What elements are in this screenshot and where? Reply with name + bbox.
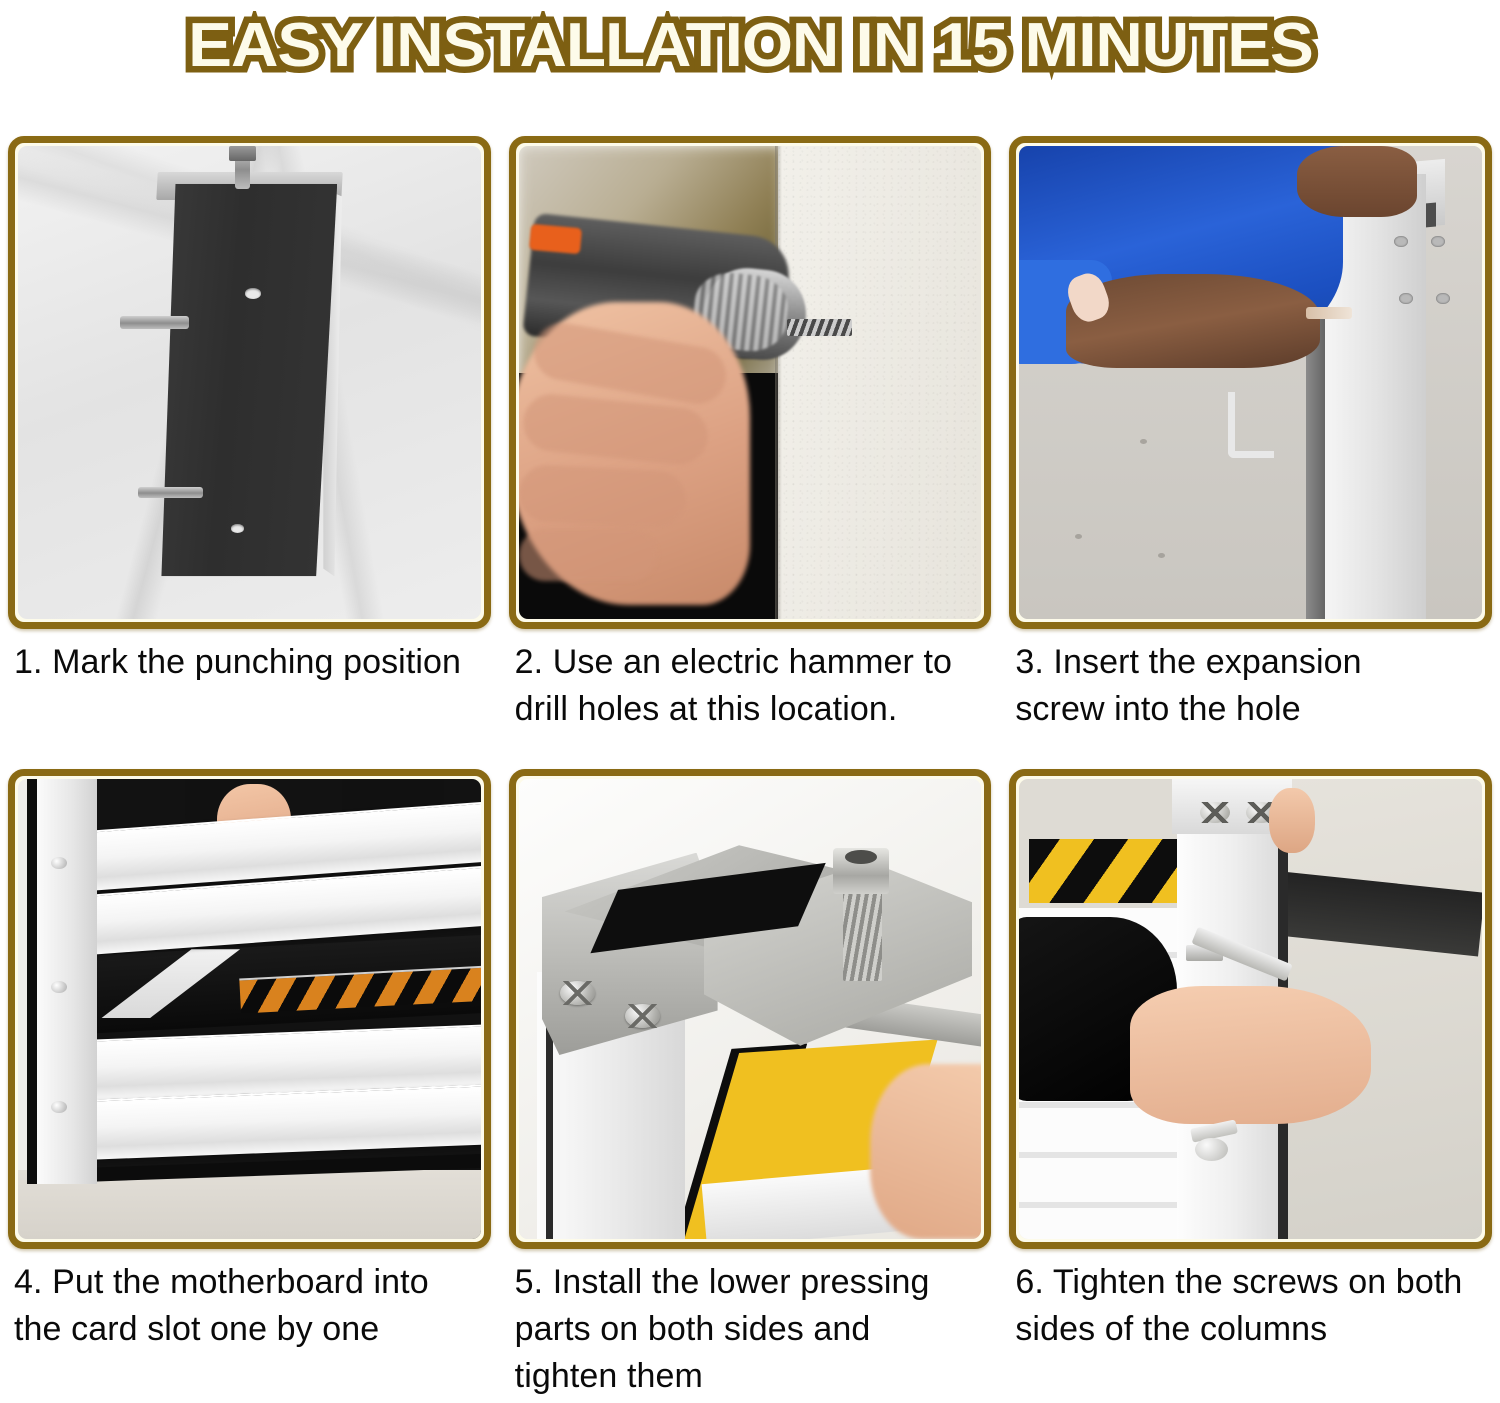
installer-hand: [870, 1064, 981, 1239]
column-bolt-1: [1394, 236, 1408, 247]
lower-screw: [1195, 1138, 1227, 1161]
photo-frame-6: [1009, 769, 1492, 1249]
step-3-caption: 3. Insert the expansion screw into the h…: [1009, 629, 1492, 733]
step-6-caption: 6. Tighten the screws on both sides of t…: [1009, 1249, 1492, 1353]
caption-line: 4. Put the motherboard into: [14, 1259, 487, 1306]
column-screw-1: [1200, 802, 1230, 823]
column-bolt-4: [1436, 293, 1450, 304]
header-banner: EASY INSTALLATION IN 15 MINUTES: [0, 0, 1500, 92]
screw-cross-icon: [1200, 802, 1230, 823]
step-2-caption: 2. Use an electric hammer to drill holes…: [509, 629, 992, 733]
step-6-image: [1019, 779, 1482, 1239]
photo-frame-5: [509, 769, 992, 1249]
screw-cross-icon: [560, 981, 595, 1005]
step-6-photo-cell: [1009, 769, 1492, 1249]
column-bolt-3: [1399, 293, 1413, 304]
step-4-photo-cell: [8, 769, 491, 1249]
step-3-photo-cell: [1009, 136, 1492, 629]
step-2-photo-cell: [509, 136, 992, 629]
floor-speck-2: [1075, 534, 1082, 539]
step-1-image: [18, 146, 481, 619]
step-5-photo-cell: [509, 769, 992, 1249]
finger-4: [519, 529, 658, 581]
photo-frame-2: [509, 136, 992, 629]
step-2-caption-cell: 2. Use an electric hammer to drill holes…: [509, 629, 992, 769]
photo-frame-3: [1009, 136, 1492, 629]
column-bolt-2: [1431, 236, 1445, 247]
expansion-screw: [1306, 307, 1352, 319]
caption-line: parts on both sides and: [515, 1306, 988, 1353]
thumb-bolt-shaft: [843, 889, 882, 981]
step-3-image: [1019, 146, 1482, 619]
caption-line: drill holes at this location.: [515, 686, 988, 733]
installation-guide-page: EASY INSTALLATION IN 15 MINUTES: [0, 0, 1500, 1403]
caption-line: the card slot one by one: [14, 1306, 487, 1353]
allen-key: [1228, 392, 1274, 458]
caption-line: screw into the hole: [1015, 686, 1488, 733]
step-4-caption-cell: 4. Put the motherboard into the card slo…: [8, 1249, 491, 1394]
caption-line: sides of the columns: [1015, 1306, 1488, 1353]
textured-wall: [778, 146, 982, 619]
step-3-caption-cell: 3. Insert the expansion screw into the h…: [1009, 629, 1492, 769]
floor-speck-3: [1158, 553, 1165, 558]
step-2-image: [519, 146, 982, 619]
page-title: EASY INSTALLATION IN 15 MINUTES: [188, 10, 1313, 82]
middle-stud: [120, 316, 189, 328]
caption-line: 3. Insert the expansion: [1015, 639, 1488, 686]
step-5-caption-cell: 5. Install the lower pressing parts on b…: [509, 1249, 992, 1394]
drill-trigger-orange: [529, 224, 582, 254]
installer-hand: [1130, 986, 1371, 1124]
step-6-caption-cell: 6. Tighten the screws on both sides of t…: [1009, 1249, 1492, 1394]
drill-bit: [787, 319, 852, 336]
caption-line: 2. Use an electric hammer to: [515, 639, 988, 686]
installer-thumb: [1269, 788, 1315, 852]
finger-3: [519, 463, 687, 528]
floor-speck-1: [1140, 439, 1147, 444]
lower-mark-hole: [231, 524, 244, 533]
step-4-caption: 4. Put the motherboard into the card slo…: [8, 1249, 491, 1353]
steps-grid: 1. Mark the punching position 2. Use an …: [8, 136, 1492, 1394]
top-stud-nut: [229, 146, 257, 161]
caption-line: tighten them: [515, 1353, 988, 1400]
upper-mark-hole: [245, 288, 262, 299]
bracket-screw-2: [625, 1004, 660, 1028]
white-column: [37, 779, 97, 1184]
step-1-caption-cell: 1. Mark the punching position: [8, 629, 491, 769]
screw-cross-icon: [625, 1004, 660, 1028]
caption-line: 6. Tighten the screws on both: [1015, 1259, 1488, 1306]
column-bolt-3: [51, 1101, 67, 1113]
step-1-caption: 1. Mark the punching position: [8, 629, 491, 686]
caption-line: 5. Install the lower pressing: [515, 1259, 988, 1306]
photo-frame-1: [8, 136, 491, 629]
step-1-photo-cell: [8, 136, 491, 629]
hazard-stripe-yellow: [1029, 839, 1186, 903]
lower-stud: [138, 487, 203, 498]
caption-line: 1. Mark the punching position: [14, 639, 487, 686]
post-base-plate: [161, 184, 337, 577]
bracket-screw-1: [560, 981, 595, 1005]
photo-frame-4: [8, 769, 491, 1249]
step-4-image: [18, 779, 481, 1239]
step-5-image: [519, 779, 982, 1239]
step-5-caption: 5. Install the lower pressing parts on b…: [509, 1249, 992, 1400]
wall-corner-edge: [775, 146, 782, 619]
worker-upper-hand: [1297, 146, 1417, 217]
